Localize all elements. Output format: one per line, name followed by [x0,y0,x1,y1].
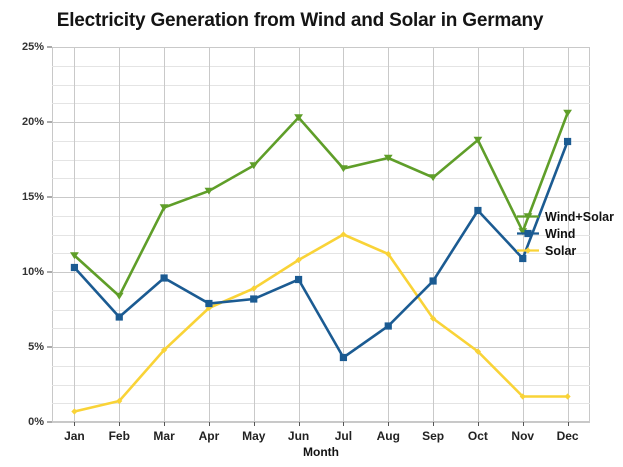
x-tick-label: Mar [153,429,174,443]
x-tick-label: Apr [199,429,220,443]
x-tick-mark [343,422,344,426]
x-tick-label: May [242,429,265,443]
x-tick-label: Sep [422,429,444,443]
series-wind [71,138,571,361]
data-point-marker [295,276,302,283]
gridline-horizontal [52,422,590,423]
x-tick-label: Oct [468,429,488,443]
x-tick-mark [119,422,120,426]
series-line [74,113,567,296]
y-tick-label: 15% [22,191,44,203]
x-tick-label: Dec [557,429,579,443]
legend-swatch-icon [516,210,540,223]
y-tick-label: 5% [28,341,44,353]
data-point-marker [71,264,78,271]
data-point-marker [116,313,123,320]
legend-item-label: Wind+Solar [545,210,614,224]
x-tick-mark [478,422,479,426]
data-point-marker [385,322,392,329]
x-tick-label: Feb [109,429,130,443]
data-point-marker [250,295,257,302]
x-tick-mark [568,422,569,426]
data-point-marker [474,207,481,214]
x-tick-label: Jan [64,429,85,443]
legend-swatch-icon [516,244,540,257]
legend-item-wind-plus-solar[interactable]: Wind+Solar [516,208,614,225]
x-tick-label: Nov [511,429,534,443]
data-point-marker [564,393,570,399]
chart-root: Electricity Generation from Wind and Sol… [0,0,623,467]
x-tick-mark [74,422,75,426]
y-tick-label: 25% [22,41,44,53]
series-solar [71,231,570,414]
plot-area: 0%5%10%15%20%25% JanFebMarAprMayJunJulAu… [52,47,590,422]
data-point-marker [160,274,167,281]
y-tick-label: 20% [22,116,44,128]
data-point-marker [563,110,572,117]
chart-legend: Wind+SolarWindSolar [516,208,614,259]
data-point-marker [71,408,77,414]
legend-item-label: Wind [545,227,575,241]
x-axis-title: Month [52,445,590,459]
series-wind-plus-solar [70,110,572,300]
data-point-marker [429,174,438,181]
data-point-marker [564,138,571,145]
x-tick-label: Jul [335,429,352,443]
legend-item-label: Solar [545,244,576,258]
series-line [74,235,567,412]
data-point-marker [429,277,436,284]
data-point-marker [340,354,347,361]
x-tick-mark [433,422,434,426]
legend-swatch-icon [516,227,540,240]
x-tick-mark [164,422,165,426]
chart-title: Electricity Generation from Wind and Sol… [0,10,600,32]
x-tick-mark [523,422,524,426]
x-tick-mark [388,422,389,426]
y-tick-label: 10% [22,266,44,278]
series-lines [52,47,590,422]
x-tick-mark [254,422,255,426]
data-point-marker [115,293,124,300]
x-tick-mark [209,422,210,426]
legend-item-wind[interactable]: Wind [516,225,614,242]
x-tick-mark [299,422,300,426]
data-point-marker [205,300,212,307]
x-tick-label: Aug [377,429,400,443]
legend-item-solar[interactable]: Solar [516,242,614,259]
x-tick-label: Jun [288,429,309,443]
y-tick-label: 0% [28,416,44,428]
